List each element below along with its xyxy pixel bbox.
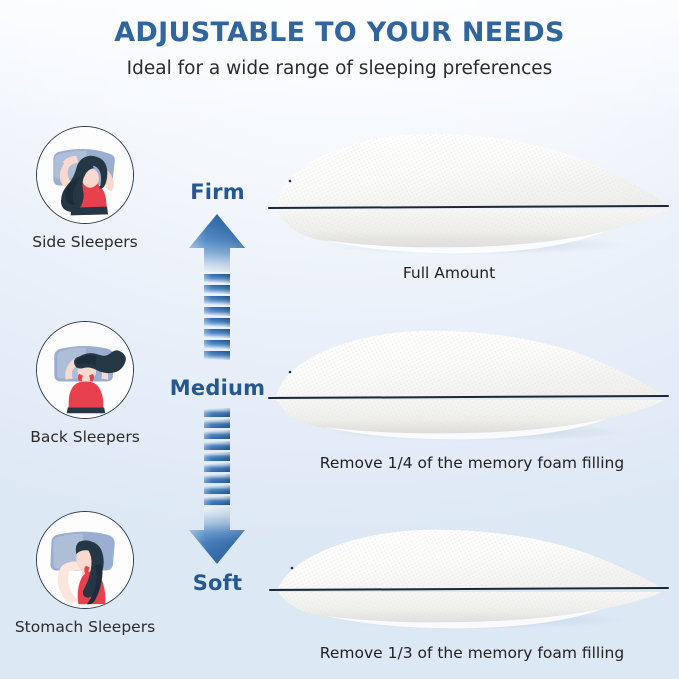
sleeper-item-stomach: Stomach Sleepers [0, 511, 170, 637]
sleeper-item-back: Back Sleepers [0, 321, 170, 447]
sleeper-label-side: Side Sleepers [0, 233, 170, 252]
header: ADJUSTABLE TO YOUR NEEDS Ideal for a wid… [0, 18, 679, 79]
pillow-item-full: Full Amount [262, 132, 679, 283]
back-sleeper-icon [36, 321, 134, 419]
pillow-item-quarter: Remove 1/4 of the memory foam filling [262, 322, 679, 473]
infographic-page: ADJUSTABLE TO YOUR NEEDS Ideal for a wid… [0, 0, 679, 679]
pillow-image-full [262, 132, 679, 260]
pillow-caption-third: Remove 1/3 of the memory foam filling [262, 644, 679, 663]
pillow-item-third: Remove 1/3 of the memory foam filling [262, 512, 679, 663]
pillow-image-third [262, 512, 679, 640]
firmness-label-medium: Medium [160, 376, 275, 400]
page-title: ADJUSTABLE TO YOUR NEEDS [0, 18, 679, 48]
side-sleeper-icon [36, 126, 134, 224]
pillow-image-quarter [262, 322, 679, 450]
pillow-caption-quarter: Remove 1/4 of the memory foam filling [262, 454, 679, 473]
arrow-down-icon [185, 406, 249, 566]
firmness-scale: Firm [160, 180, 275, 600]
pillow-caption-full: Full Amount [262, 264, 679, 283]
firmness-label-firm: Firm [160, 180, 275, 204]
stomach-sleeper-icon [36, 511, 134, 609]
arrow-up-icon [185, 212, 249, 364]
page-subtitle: Ideal for a wide range of sleeping prefe… [0, 59, 679, 79]
sleeper-label-stomach: Stomach Sleepers [0, 618, 170, 637]
firmness-label-soft: Soft [160, 571, 275, 595]
sleeper-label-back: Back Sleepers [0, 428, 170, 447]
sleeper-item-side: Side Sleepers [0, 126, 170, 252]
